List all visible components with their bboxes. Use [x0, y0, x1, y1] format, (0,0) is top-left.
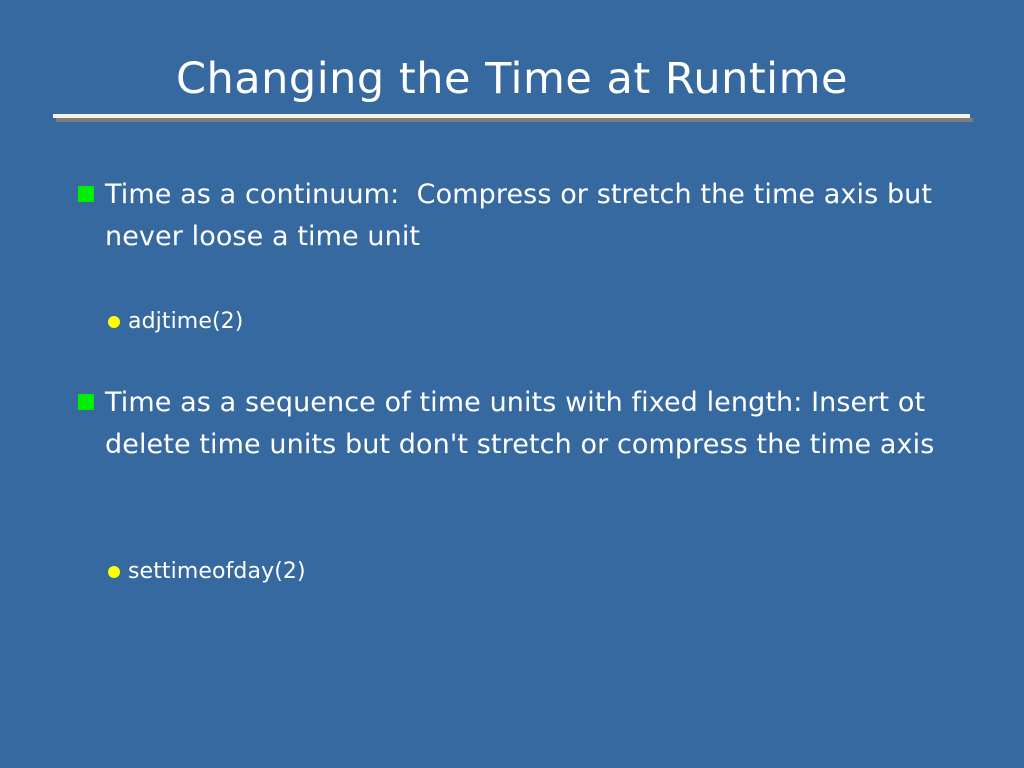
title-underline-rule	[53, 114, 970, 118]
bullet-text: adjtime(2)	[128, 306, 243, 338]
list-item: Time as a continuum: Compress or stretch…	[78, 174, 938, 258]
presentation-slide: Changing the Time at Runtime Time as a c…	[0, 0, 1024, 768]
green-square-bullet-icon	[78, 394, 94, 410]
green-square-bullet-icon	[78, 186, 94, 202]
bullet-text: Time as a continuum: Compress or stretch…	[105, 174, 938, 258]
list-item: Time as a sequence of time units with fi…	[78, 382, 938, 466]
bullet-text: Time as a sequence of time units with fi…	[105, 382, 938, 466]
yellow-dot-bullet-icon	[108, 566, 120, 578]
yellow-dot-bullet-icon	[108, 316, 120, 328]
list-item: adjtime(2)	[108, 306, 928, 338]
slide-body: Time as a continuum: Compress or stretch…	[0, 170, 1024, 730]
bullet-text: settimeofday(2)	[128, 556, 306, 588]
list-item: settimeofday(2)	[108, 556, 928, 588]
slide-title-block: Changing the Time at Runtime	[0, 54, 1024, 104]
page-title: Changing the Time at Runtime	[0, 54, 1024, 104]
